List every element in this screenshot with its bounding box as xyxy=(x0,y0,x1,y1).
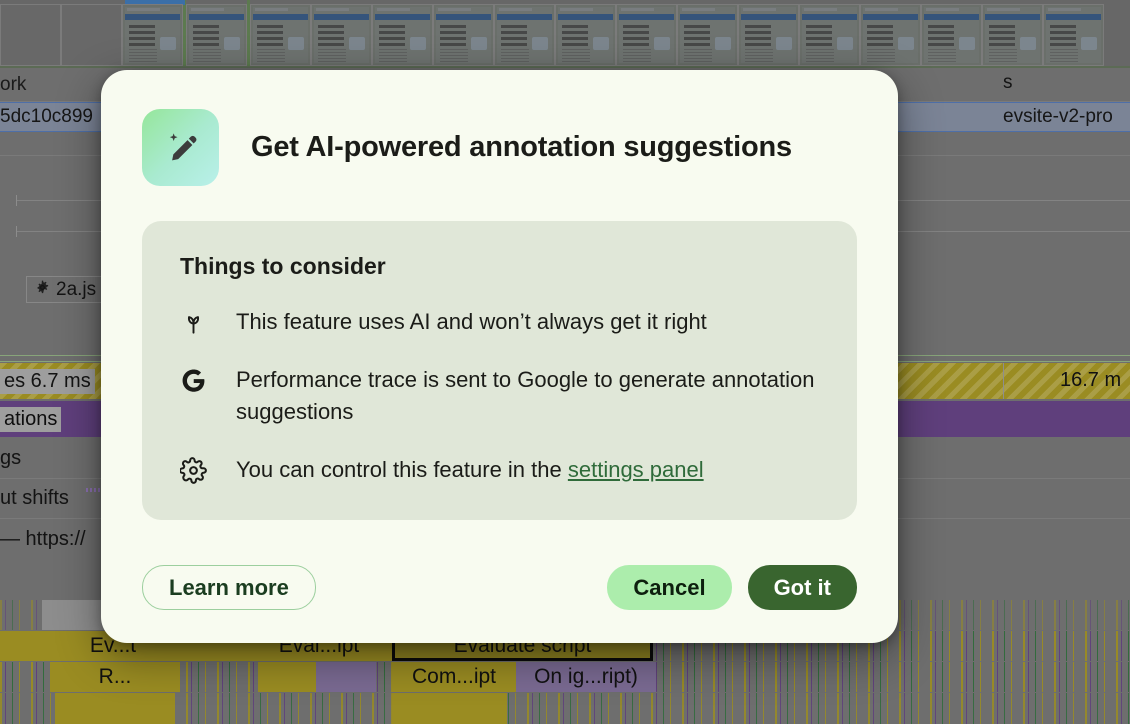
consider-item-ai-accuracy: This feature uses AI and won’t always ge… xyxy=(180,306,823,338)
magic-pencil-icon xyxy=(142,109,219,186)
things-to-consider-heading: Things to consider xyxy=(180,253,823,280)
cancel-button[interactable]: Cancel xyxy=(607,565,731,610)
got-it-button[interactable]: Got it xyxy=(748,565,857,610)
consider-item-trace-sent: Performance trace is sent to Google to g… xyxy=(180,364,823,428)
ai-annotations-consent-dialog: Get AI-powered annotation suggestions Th… xyxy=(101,70,898,643)
learn-more-button[interactable]: Learn more xyxy=(142,565,316,610)
dialog-actions: Learn more Cancel Got it xyxy=(142,565,857,610)
settings-panel-link[interactable]: settings panel xyxy=(568,457,704,482)
sprout-icon xyxy=(180,309,207,336)
consider-item-text: Performance trace is sent to Google to g… xyxy=(236,364,823,428)
consider-item-text: This feature uses AI and won’t always ge… xyxy=(236,306,707,338)
dialog-header: Get AI-powered annotation suggestions xyxy=(101,70,898,186)
things-to-consider-panel: Things to consider This feature uses AI … xyxy=(142,221,857,520)
gear-icon xyxy=(180,457,207,484)
consider-item-text: You can control this feature in the sett… xyxy=(236,454,704,486)
consider-item-settings: You can control this feature in the sett… xyxy=(180,454,823,486)
dialog-title: Get AI-powered annotation suggestions xyxy=(251,131,792,164)
google-g-icon xyxy=(180,367,207,394)
consider-item-text-prefix: You can control this feature in the xyxy=(236,457,568,482)
